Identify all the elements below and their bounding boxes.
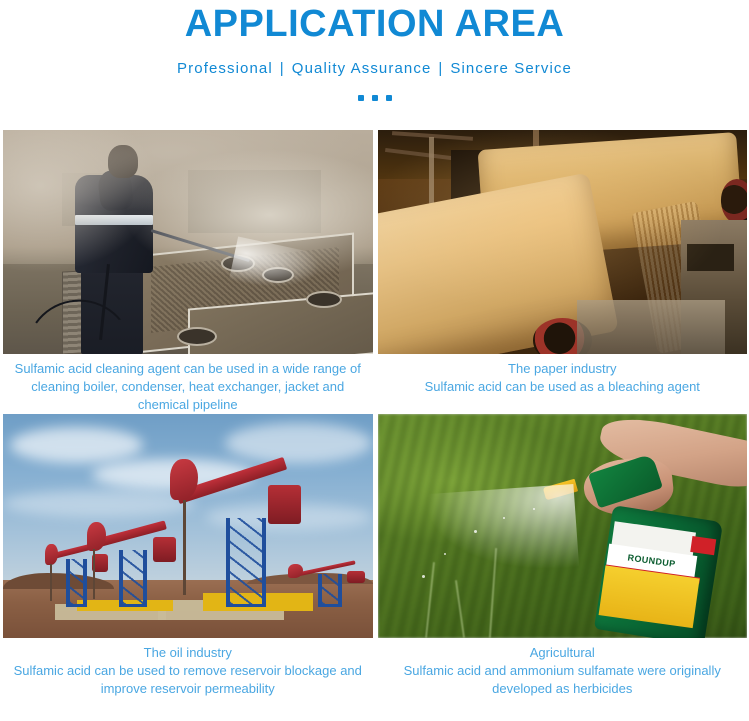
application-card-paper[interactable]: The paper industry Sulfamic acid can be … <box>378 130 748 414</box>
divider-dot-1 <box>358 95 364 101</box>
spray-droplet <box>444 553 446 555</box>
application-card-oil[interactable]: The oil industry Sulfamic acid can be us… <box>3 414 373 698</box>
pumpjack-counterweight <box>268 485 301 523</box>
caption-line: improve reservoir permeability <box>5 680 371 698</box>
caption-line: developed as herbicides <box>380 680 746 698</box>
caption-line: Agricultural <box>380 644 746 662</box>
paper-caption: The paper industry Sulfamic acid can be … <box>378 354 748 414</box>
tagline-item-sincere-service: Sincere Service <box>450 60 572 77</box>
pumpjack-tower <box>119 550 147 607</box>
pumpjack-horsehead <box>45 544 58 566</box>
pumpjack-polished-rod <box>183 500 186 595</box>
steam-mist <box>3 130 373 354</box>
roundup-bottle: ROUNDUP <box>594 505 723 638</box>
application-cards-grid: Sulfamic acid cleaning agent can be used… <box>3 130 747 698</box>
application-area-page: APPLICATION AREA Professional|Quality As… <box>0 0 749 721</box>
dots-divider <box>0 92 749 104</box>
pumpjack-tower <box>318 574 342 607</box>
section-header: APPLICATION AREA Professional|Quality As… <box>0 0 749 104</box>
caption-line: Sulfamic acid cleaning agent can be used… <box>5 360 371 378</box>
spray-droplet <box>533 508 535 510</box>
cleaning-caption: Sulfamic acid cleaning agent can be used… <box>3 354 373 414</box>
caption-line: Sulfamic acid and ammonium sulfamate wer… <box>380 662 746 680</box>
cleaning-illustration <box>3 130 373 354</box>
pumpjack-horsehead <box>288 564 303 578</box>
caption-line: chemical pipeline <box>5 396 371 414</box>
cleaning-image[interactable] <box>3 130 373 354</box>
page-title: APPLICATION AREA <box>0 2 749 46</box>
caption-line: cleaning boiler, condenser, heat exchang… <box>5 378 371 396</box>
pumpjack-counterweight <box>347 571 365 583</box>
tagline-separator-2: | <box>431 59 450 79</box>
tagline-separator-1: | <box>273 59 292 79</box>
paper-mill-illustration <box>378 130 748 354</box>
pumpjack-4 <box>291 557 365 606</box>
agricultural-caption: Agricultural Sulfamic acid and ammonium … <box>378 638 748 698</box>
pumpjack-polished-rod <box>50 564 52 601</box>
paper-industry-image[interactable] <box>378 130 748 354</box>
herbicide-spray-illustration: ROUNDUP <box>378 414 748 638</box>
spray-mist <box>396 484 580 595</box>
caption-line: The paper industry <box>380 360 746 378</box>
oil-industry-image[interactable] <box>3 414 373 638</box>
pumpjack-tower <box>66 559 87 606</box>
oil-field-illustration <box>3 414 373 638</box>
pumpjack-3 <box>173 459 299 607</box>
caption-line: Sulfamic acid can be used as a bleaching… <box>380 378 746 396</box>
divider-dot-2 <box>372 95 378 101</box>
warm-light-glow <box>378 130 748 354</box>
pumpjack-2 <box>92 517 173 607</box>
pumpjack-tower <box>226 518 267 607</box>
pumpjack-polished-rod <box>93 549 95 599</box>
tagline-item-professional: Professional <box>177 60 273 77</box>
application-card-agricultural[interactable]: ROUNDUP Agricultural Sulfamic acid a <box>378 414 748 698</box>
divider-dot-3 <box>386 95 392 101</box>
caption-line: Sulfamic acid can be used to remove rese… <box>5 662 371 680</box>
oil-caption: The oil industry Sulfamic acid can be us… <box>3 638 373 698</box>
pumpjack-horsehead <box>87 522 107 551</box>
cloud-4 <box>3 490 195 517</box>
tagline: Professional|Quality Assurance|Sincere S… <box>0 59 749 79</box>
agricultural-image[interactable]: ROUNDUP <box>378 414 748 638</box>
caption-line: The oil industry <box>5 644 371 662</box>
bottle-label-speed-tag <box>690 535 716 555</box>
tagline-item-quality-assurance: Quality Assurance <box>292 60 432 77</box>
application-card-cleaning[interactable]: Sulfamic acid cleaning agent can be used… <box>3 130 373 414</box>
